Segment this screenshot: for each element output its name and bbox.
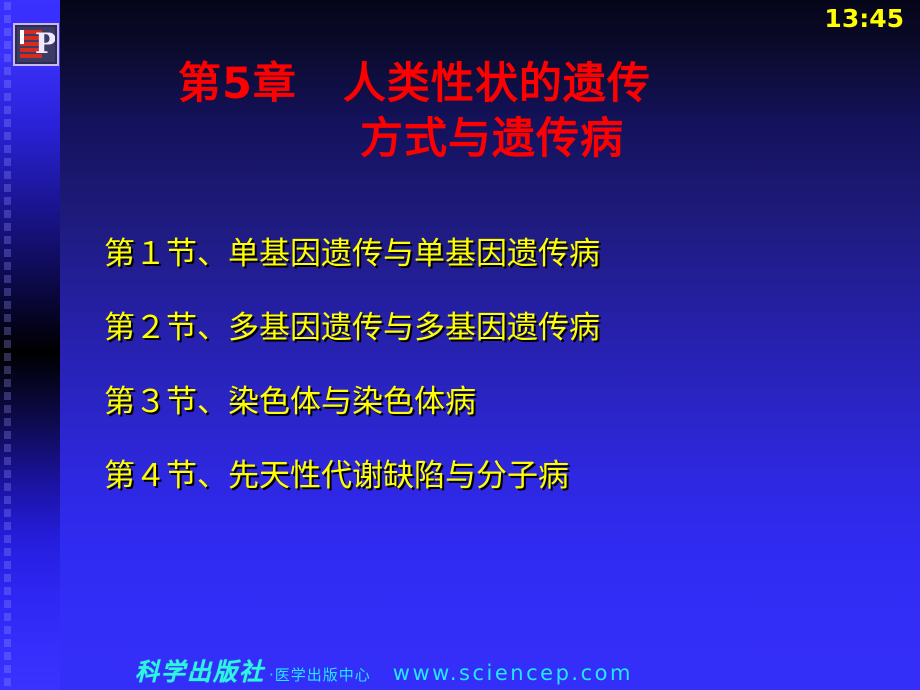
film-perforation xyxy=(4,236,11,244)
title-main: 人类性状的遗传 xyxy=(343,59,651,109)
film-perforation xyxy=(4,145,11,153)
film-perforation xyxy=(4,171,11,179)
film-perforation xyxy=(4,262,11,270)
film-perforation xyxy=(4,54,11,62)
film-perforation xyxy=(4,561,11,569)
film-perforation xyxy=(4,158,11,166)
film-perforation xyxy=(4,574,11,582)
section-list: 第１节、单基因遗传与单基因遗传病 第２节、多基因遗传与多基因遗传病 第３节、染色… xyxy=(104,236,864,532)
film-perforation xyxy=(4,405,11,413)
title-line-1: 第5章人类性状的遗传 xyxy=(150,57,870,112)
film-perforation xyxy=(4,106,11,114)
logo-artwork: P xyxy=(17,27,55,62)
film-perforation xyxy=(4,15,11,23)
film-perforation xyxy=(4,41,11,49)
film-perforation xyxy=(4,2,11,10)
film-perforation xyxy=(4,327,11,335)
list-item: 第２节、多基因遗传与多基因遗传病 xyxy=(104,310,864,346)
film-perforation xyxy=(4,379,11,387)
footer-content: 科学出版社 ·医学出版中心 www.sciencep.com xyxy=(135,652,633,687)
film-perforation xyxy=(4,197,11,205)
film-perforation xyxy=(4,80,11,88)
publisher-division: ·医学出版中心 xyxy=(269,664,371,685)
left-decorative-strip xyxy=(0,0,60,690)
film-perforation xyxy=(4,600,11,608)
film-perforation xyxy=(4,470,11,478)
film-perforation xyxy=(4,613,11,621)
film-perforation xyxy=(4,301,11,309)
publisher-logo: P xyxy=(13,23,59,66)
presentation-slide: P 13:45 第5章人类性状的遗传 方式与遗传病 第１节、单基因遗传与单基因遗… xyxy=(0,0,920,690)
logo-letter-p: P xyxy=(35,29,53,62)
film-perforation xyxy=(4,457,11,465)
film-perforation xyxy=(4,249,11,257)
list-item: 第１节、单基因遗传与单基因遗传病 xyxy=(104,236,864,272)
film-perforation xyxy=(4,392,11,400)
film-perforation xyxy=(4,223,11,231)
film-perforation xyxy=(4,522,11,530)
film-perforation xyxy=(4,587,11,595)
film-perforation xyxy=(4,535,11,543)
film-perforation xyxy=(4,314,11,322)
film-perforation xyxy=(4,483,11,491)
film-perforation xyxy=(4,509,11,517)
film-perforation xyxy=(4,418,11,426)
publisher-name: 科学出版社 xyxy=(135,652,265,687)
film-perforations xyxy=(4,0,12,690)
film-perforation xyxy=(4,626,11,634)
publisher-website: www.sciencep.com xyxy=(393,661,633,685)
film-perforation xyxy=(4,496,11,504)
film-perforation xyxy=(4,340,11,348)
title-chapter: 第5章 xyxy=(178,59,297,109)
film-perforation xyxy=(4,431,11,439)
list-item: 第４节、先天性代谢缺陷与分子病 xyxy=(104,458,864,494)
film-perforation xyxy=(4,210,11,218)
film-perforation xyxy=(4,132,11,140)
film-perforation xyxy=(4,119,11,127)
film-perforation xyxy=(4,548,11,556)
film-perforation xyxy=(4,184,11,192)
film-perforation xyxy=(4,93,11,101)
slide-title: 第5章人类性状的遗传 方式与遗传病 xyxy=(150,57,870,167)
clock-display: 13:45 xyxy=(824,4,904,33)
film-perforation xyxy=(4,444,11,452)
film-perforation xyxy=(4,288,11,296)
film-perforation xyxy=(4,275,11,283)
film-perforation xyxy=(4,28,11,36)
title-line-2: 方式与遗传病 xyxy=(150,112,870,167)
list-item: 第３节、染色体与染色体病 xyxy=(104,384,864,420)
film-perforation xyxy=(4,639,11,647)
film-perforation xyxy=(4,366,11,374)
film-perforation xyxy=(4,67,11,75)
film-perforation xyxy=(4,353,11,361)
slide-footer: 科学出版社 ·医学出版中心 www.sciencep.com xyxy=(0,652,920,682)
